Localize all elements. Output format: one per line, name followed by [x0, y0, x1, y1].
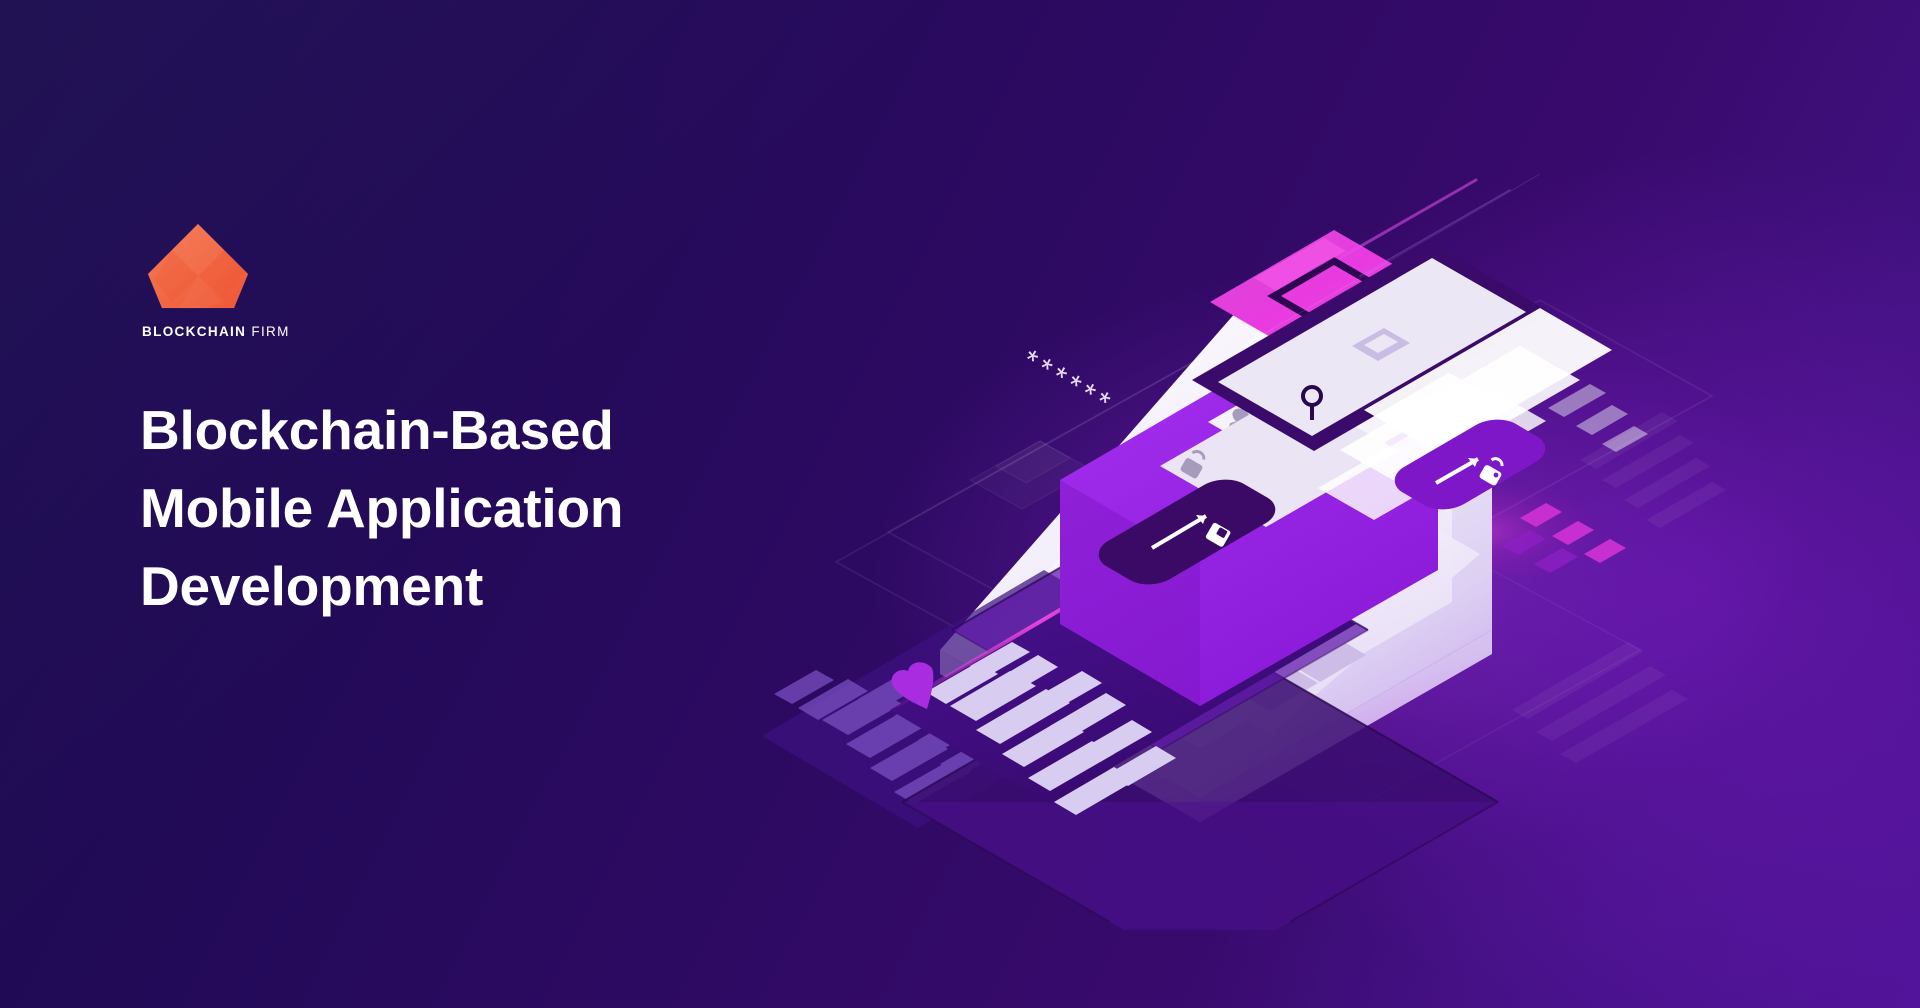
- hero-banner: BLOCKCHAIN FIRM Blockchain-Based Mobile …: [0, 0, 1920, 1008]
- wordmark-strong: BLOCKCHAIN: [142, 324, 246, 339]
- diamond-pyramid-logo-icon: [146, 222, 250, 314]
- brand-logo[interactable]: BLOCKCHAIN FIRM: [140, 222, 340, 339]
- hero-illustration: ******: [640, 150, 1920, 930]
- beam-1: [1340, 180, 1476, 258]
- wordmark-light: FIRM: [251, 324, 289, 339]
- brand-wordmark: BLOCKCHAIN FIRM: [142, 324, 340, 339]
- isometric-scene: ******: [640, 150, 1920, 930]
